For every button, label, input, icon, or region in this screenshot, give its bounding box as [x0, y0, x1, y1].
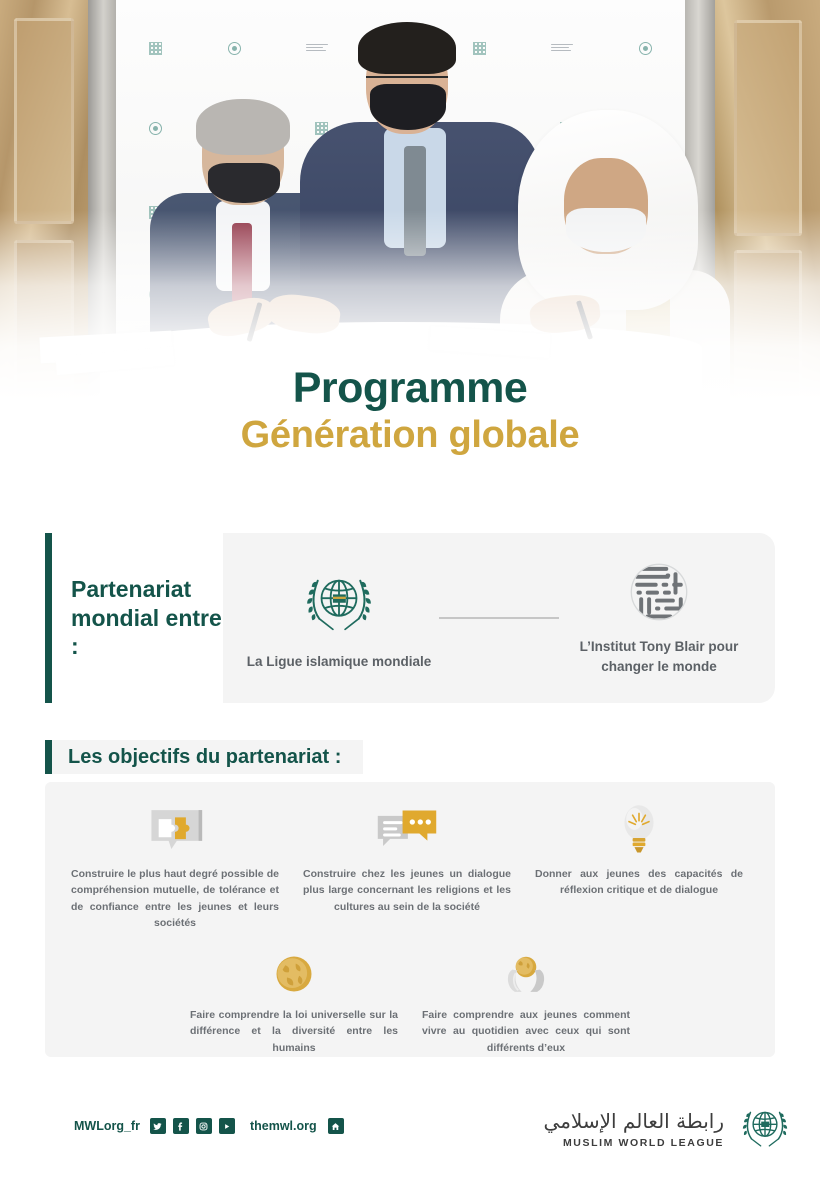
org-tbi: L’Institut Tony Blair pour changer le mo… [559, 559, 759, 676]
partnership-label: Partenariat mondial entre : [71, 575, 223, 661]
objective-item: Faire comprendre aux jeunes comment vivr… [410, 941, 642, 1056]
brand-name-english: MUSLIM WORLD LEAGUE [544, 1137, 724, 1149]
mwl-brand-lockup: رابطة العالم الإسلامي MUSLIM WORLD LEAGU… [544, 1100, 792, 1159]
objective-item: Faire comprendre la loi universelle sur … [178, 941, 410, 1056]
objectives-heading: Les objectifs du partenariat : [68, 746, 341, 769]
title-sub: Génération globale [0, 414, 820, 458]
page-title: Programme Génération globale [0, 366, 820, 457]
speech-bubble-puzzle-icon [71, 800, 279, 854]
facebook-icon[interactable] [173, 1118, 189, 1134]
org-mwl: La Ligue islamique mondiale [239, 564, 439, 672]
instagram-icon[interactable] [196, 1118, 212, 1134]
hero-photo [0, 0, 820, 400]
website-link[interactable]: themwl.org [250, 1119, 317, 1133]
social-handle: MWLorg_fr [74, 1119, 140, 1133]
hands-holding-globe-icon [422, 941, 630, 995]
mwl-globe-laurel-emblem [301, 564, 377, 640]
accent-bar [45, 740, 52, 774]
org-name-tbi: L’Institut Tony Blair pour changer le mo… [559, 637, 759, 676]
objective-item: Construire chez les jeunes un dialogue p… [291, 800, 523, 931]
objective-text: Faire comprendre aux jeunes comment vivr… [422, 1007, 630, 1056]
objective-item: Donner aux jeunes des capacités de réfle… [523, 800, 755, 931]
partnership-section: Partenariat mondial entre : [45, 533, 775, 703]
objectives-heading-box: Les objectifs du partenariat : [45, 740, 363, 774]
partnership-connector-line [439, 617, 559, 619]
social-links: MWLorg_fr themwl.org [74, 1118, 344, 1134]
objective-text: Construire le plus haut degré possible d… [71, 866, 279, 931]
org-name-mwl: La Ligue islamique mondiale [239, 652, 439, 672]
brand-name-arabic: رابطة العالم الإسلامي [544, 1110, 724, 1132]
objective-text: Faire comprendre la loi universelle sur … [190, 1007, 398, 1056]
mwl-globe-laurel-emblem [738, 1100, 792, 1159]
brand-text: رابطة العالم الإسلامي MUSLIM WORLD LEAGU… [544, 1110, 724, 1149]
tony-blair-institute-emblem [626, 559, 692, 625]
objective-item: Construire le plus haut degré possible d… [59, 800, 291, 931]
objectives-panel: Construire le plus haut degré possible d… [45, 782, 775, 1057]
lightbulb-icon [535, 800, 743, 854]
youtube-icon[interactable] [219, 1118, 235, 1134]
twitter-icon[interactable] [150, 1118, 166, 1134]
partnership-orgs: La Ligue islamique mondiale [223, 533, 775, 703]
globe-coin-icon [190, 941, 398, 995]
chat-bubbles-icon [303, 800, 511, 854]
objective-text: Donner aux jeunes des capacités de réfle… [535, 866, 743, 899]
partnership-label-box: Partenariat mondial entre : [45, 533, 223, 703]
home-icon[interactable] [328, 1118, 344, 1134]
accent-bar [45, 533, 52, 703]
title-main: Programme [0, 366, 820, 412]
objective-text: Construire chez les jeunes un dialogue p… [303, 866, 511, 915]
